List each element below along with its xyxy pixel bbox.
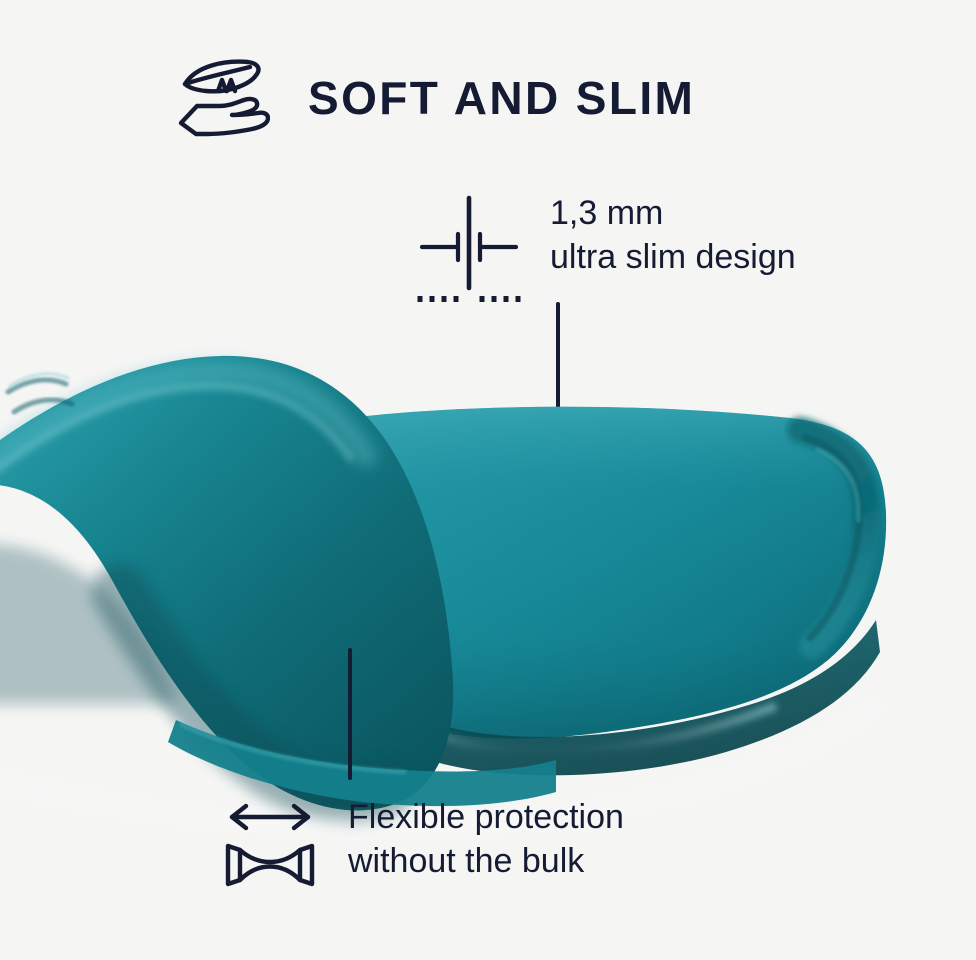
product-image [0,300,976,840]
callout-flexibility-line2: without the bulk [348,840,624,884]
callout-thickness-text: 1,3 mm ultra slim design [550,192,796,279]
stretch-arrows-icon [218,796,322,890]
page-title: SOFT AND SLIM [308,75,695,121]
callout-thickness-line1: 1,3 mm [550,192,796,236]
callout-thickness-line2: ultra slim design [550,236,796,280]
callout-flexibility-line1: Flexible protection [348,796,624,840]
feather-in-hand-icon [178,58,270,138]
callout-thickness: 1,3 mm ultra slim design [414,192,796,304]
callout-flexibility-text: Flexible protection without the bulk [348,796,624,883]
callout-flexibility: Flexible protection without the bulk [218,796,624,890]
product-feature-image: SOFT AND SLIM [0,0,976,960]
leader-line-bottom [348,648,352,780]
header: SOFT AND SLIM [178,58,695,138]
caliper-thickness-icon [414,192,524,304]
